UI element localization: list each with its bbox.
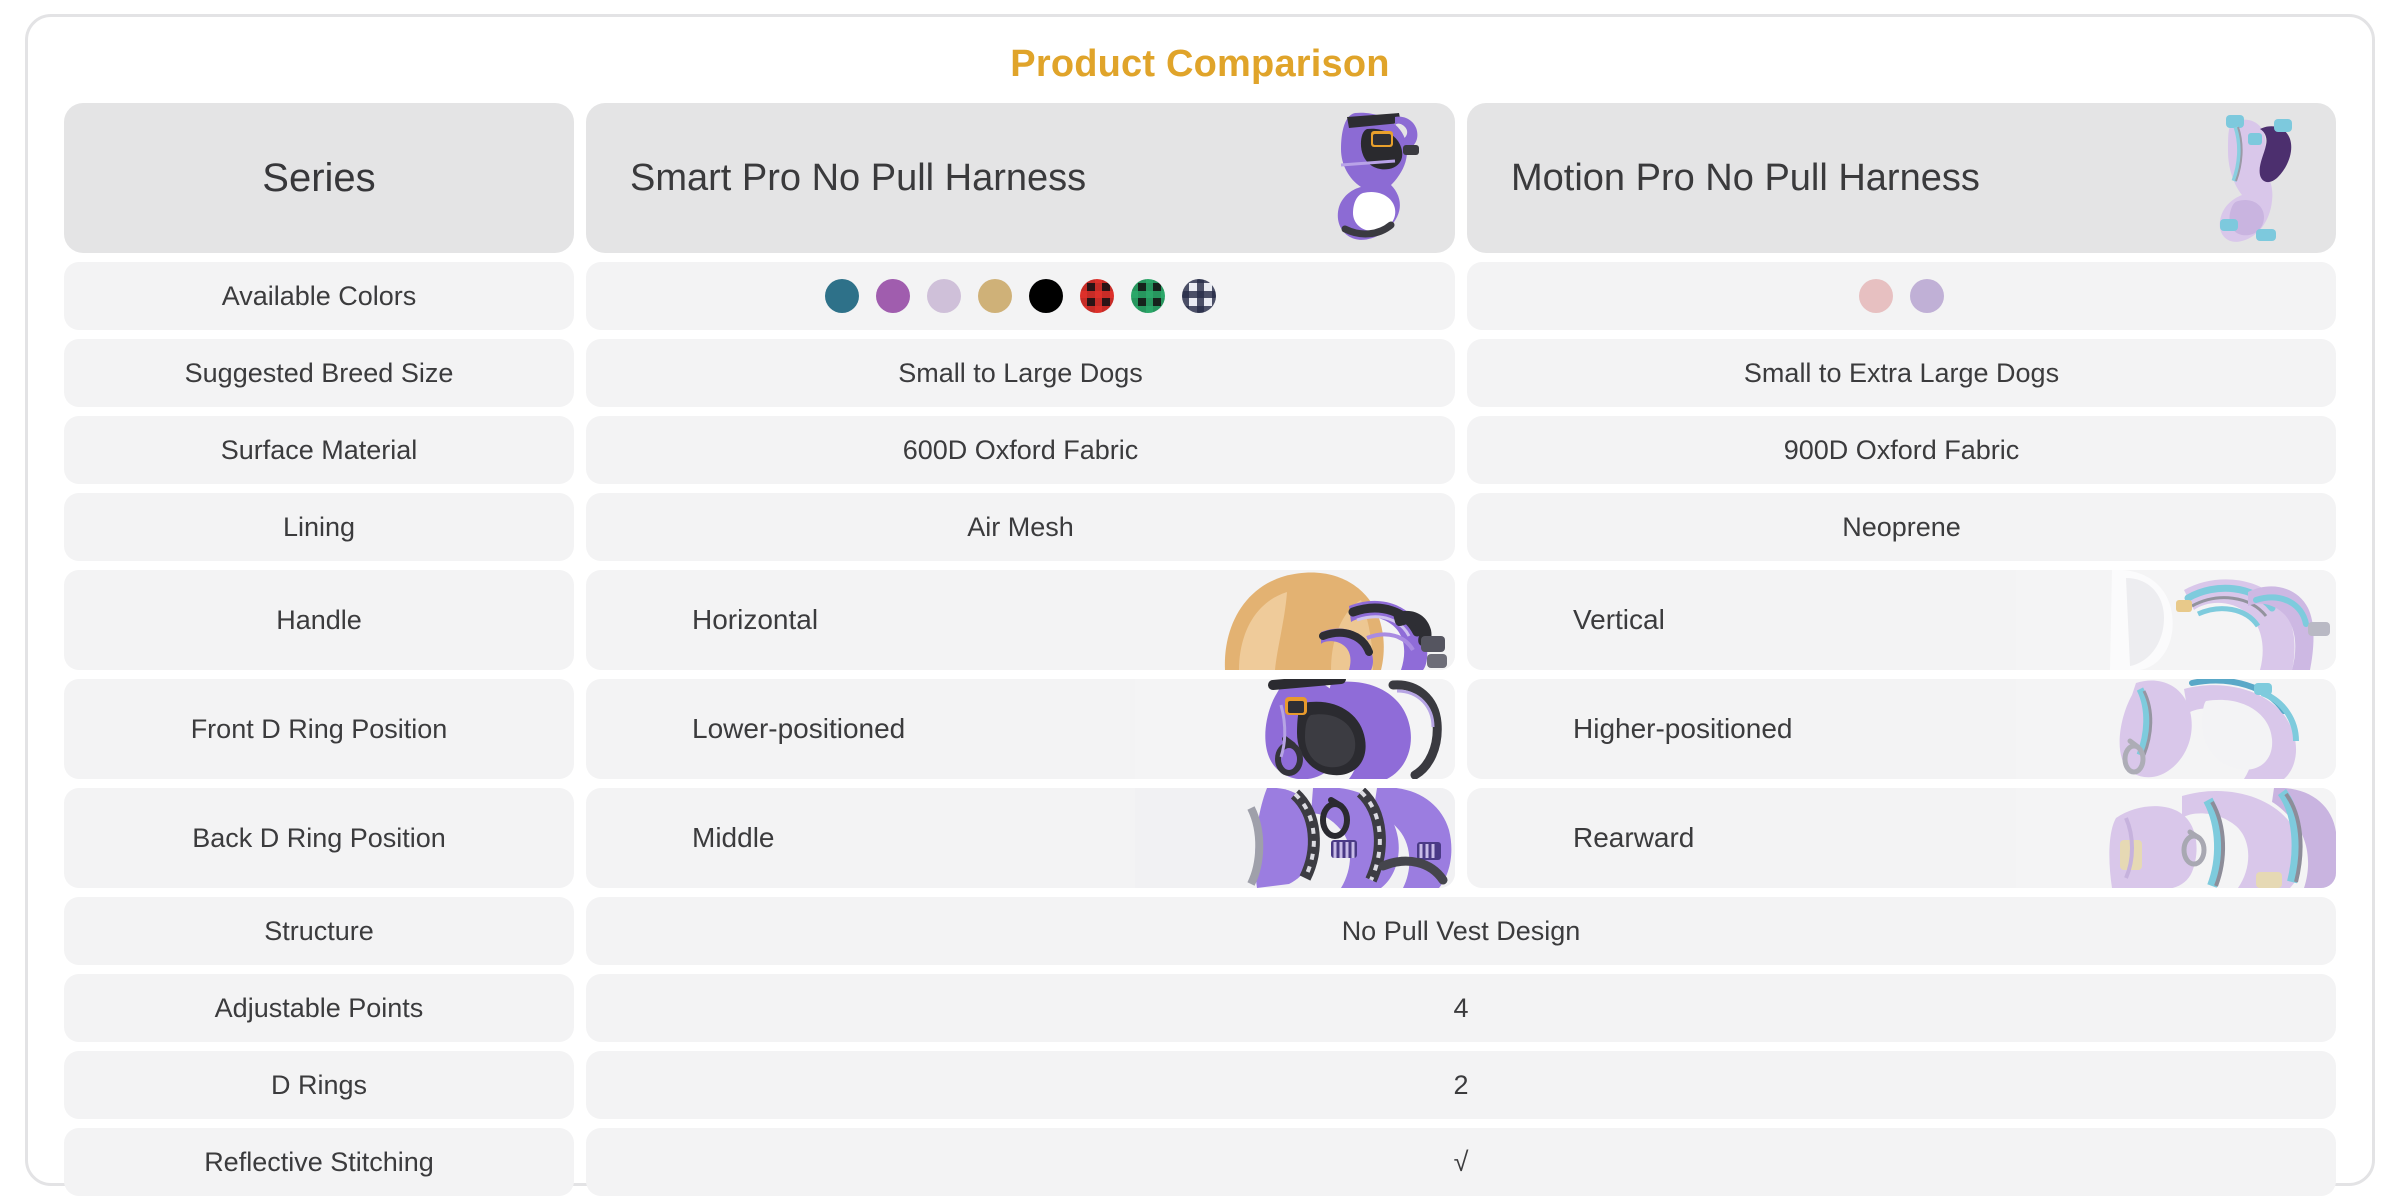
dog-wearing-purple-harness-photo [1135,570,1455,670]
comparison-table: Series Smart Pro No Pull Harness [64,103,2336,1196]
front-d-ring-cell-1: Lower-positioned [586,679,1455,779]
handle-cell-1: Horizontal [586,570,1455,670]
table-row-suggested-breed-size: Suggested Breed Size Small to Large Dogs… [64,339,2336,407]
breed-size-value-2: Small to Extra Large Dogs [1467,339,2336,407]
swatch-group-1 [825,279,1216,313]
row-label-d-rings: D Rings [64,1051,574,1119]
table-row-adjustable-points: Adjustable Points 4 [64,974,2336,1042]
table-row-d-rings: D Rings 2 [64,1051,2336,1119]
table-row-surface-material: Surface Material 600D Oxford Fabric 900D… [64,416,2336,484]
row-label-surface-material: Surface Material [64,416,574,484]
header-product-cell-2[interactable]: Motion Pro No Pull Harness [1467,103,2336,253]
comparison-card: Product Comparison Series Smart Pro No P… [25,14,2375,1186]
color-swatch-teal[interactable] [825,279,859,313]
row-label-lining: Lining [64,493,574,561]
table-row-handle: Handle Horizontal [64,570,2336,670]
row-label-handle: Handle [64,570,574,670]
color-swatch-navy-plaid[interactable] [1182,279,1216,313]
colors-cell-product-1 [586,262,1455,330]
motion-pro-harness-photo [2096,103,2326,253]
surface-material-value-1: 600D Oxford Fabric [586,416,1455,484]
table-row-available-colors: Available Colors [64,262,2336,330]
color-swatch-tan[interactable] [978,279,1012,313]
table-header-row: Series Smart Pro No Pull Harness [64,103,2336,253]
header-series-cell: Series [64,103,574,253]
lavender-harness-front-dring-photo [2016,679,2336,779]
front-d-ring-value-1: Lower-positioned [692,713,905,745]
color-swatch-red-plaid[interactable] [1080,279,1114,313]
swatch-group-2 [1859,279,1944,313]
purple-harness-front-dring-photo [1135,679,1455,779]
product-name-2: Motion Pro No Pull Harness [1511,157,1980,200]
table-row-reflective-stitching: Reflective Stitching √ [64,1128,2336,1196]
colors-cell-product-2 [1467,262,2336,330]
reflective-stitching-value-shared: √ [586,1128,2336,1196]
header-product-cell-1[interactable]: Smart Pro No Pull Harness [586,103,1455,253]
lavender-harness-back-dring-photo [2016,788,2336,888]
lining-value-1: Air Mesh [586,493,1455,561]
purple-harness-back-dring-photo [1135,788,1455,888]
color-swatch-green-plaid[interactable] [1131,279,1165,313]
lining-value-2: Neoprene [1467,493,2336,561]
row-label-reflective-stitching: Reflective Stitching [64,1128,574,1196]
back-d-ring-value-1: Middle [692,822,774,854]
color-swatch-light-purple[interactable] [1910,279,1944,313]
d-rings-value-shared: 2 [586,1051,2336,1119]
back-d-ring-cell-1: Middle [586,788,1455,888]
surface-material-value-2: 900D Oxford Fabric [1467,416,2336,484]
color-swatch-lavender[interactable] [927,279,961,313]
row-label-available-colors: Available Colors [64,262,574,330]
row-label-back-d-ring-position: Back D Ring Position [64,788,574,888]
handle-value-1: Horizontal [692,604,818,636]
lavender-harness-handle-photo [2016,570,2336,670]
breed-size-value-1: Small to Large Dogs [586,339,1455,407]
structure-value-shared: No Pull Vest Design [586,897,2336,965]
product-name-1: Smart Pro No Pull Harness [630,157,1086,200]
page-title: Product Comparison [28,17,2372,89]
row-label-structure: Structure [64,897,574,965]
smart-pro-harness-photo [1215,103,1445,253]
handle-cell-2: Vertical [1467,570,2336,670]
color-swatch-orchid[interactable] [876,279,910,313]
back-d-ring-cell-2: Rearward [1467,788,2336,888]
color-swatch-dusty-pink[interactable] [1859,279,1893,313]
table-row-lining: Lining Air Mesh Neoprene [64,493,2336,561]
table-row-structure: Structure No Pull Vest Design [64,897,2336,965]
row-label-adjustable-points: Adjustable Points [64,974,574,1042]
handle-value-2: Vertical [1573,604,1665,636]
row-label-suggested-breed-size: Suggested Breed Size [64,339,574,407]
adjustable-points-value-shared: 4 [586,974,2336,1042]
table-row-front-d-ring-position: Front D Ring Position Lower-positioned [64,679,2336,779]
table-row-back-d-ring-position: Back D Ring Position Middle [64,788,2336,888]
color-swatch-black[interactable] [1029,279,1063,313]
header-series-label: Series [262,156,375,201]
front-d-ring-cell-2: Higher-positioned [1467,679,2336,779]
front-d-ring-value-2: Higher-positioned [1573,713,1792,745]
back-d-ring-value-2: Rearward [1573,822,1694,854]
row-label-front-d-ring-position: Front D Ring Position [64,679,574,779]
